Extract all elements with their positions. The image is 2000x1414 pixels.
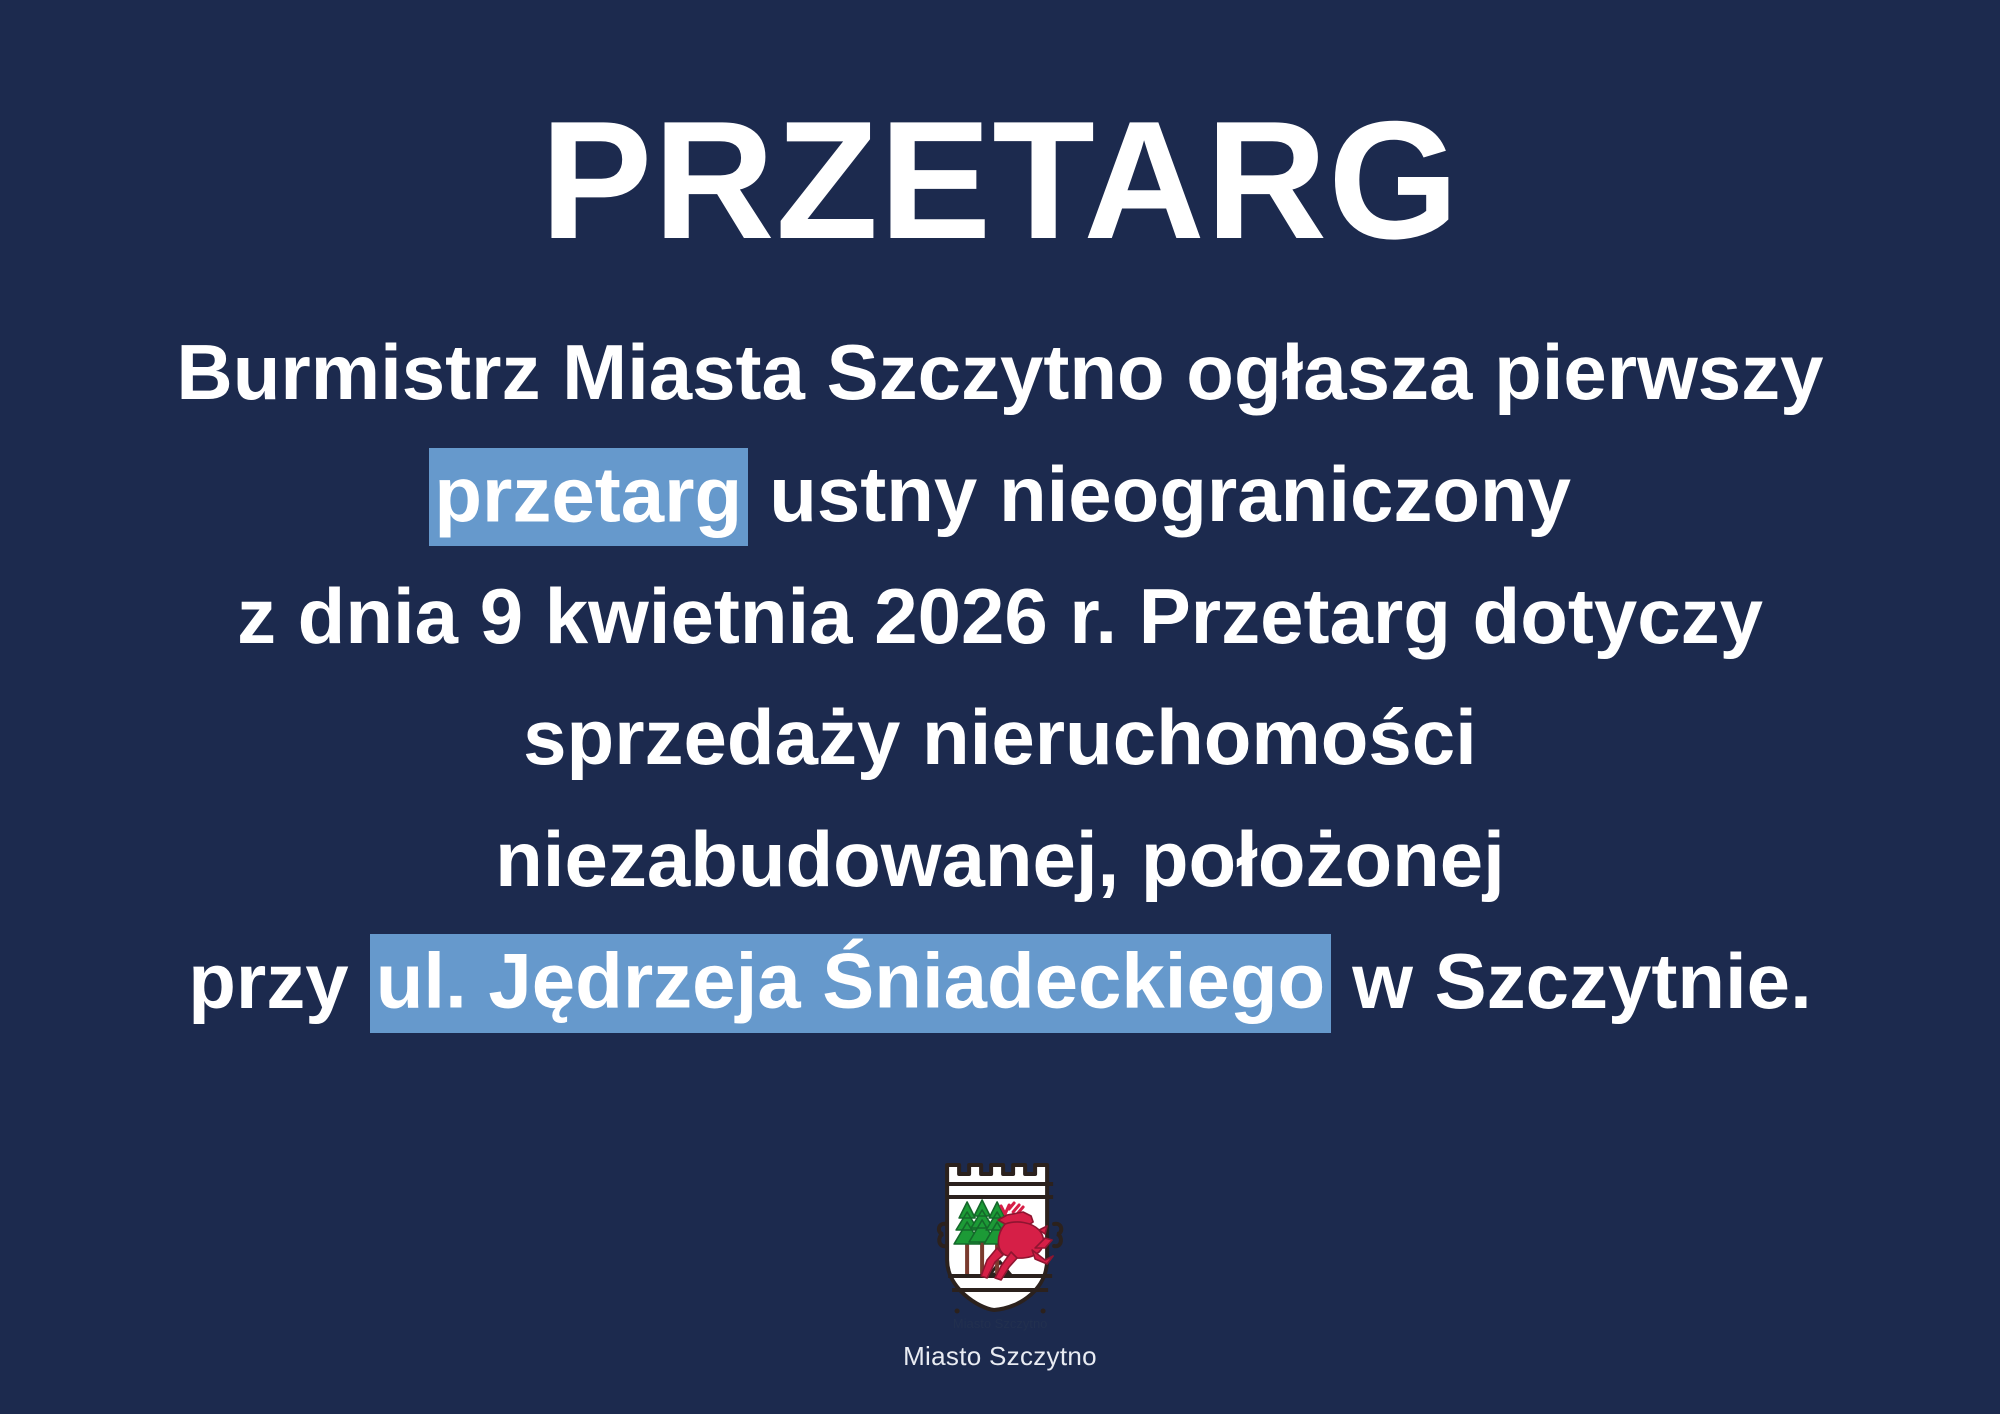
body-line-2: przetarg ustny nieograniczony xyxy=(60,434,1940,556)
city-logo: Miasto Szczytno Miasto Szczytno xyxy=(903,1160,1097,1372)
body-line-1: Burmistrz Miasta Szczytno ogłasza pierws… xyxy=(60,312,1940,434)
highlight-street-name: ul. Jędrzeja Śniadeckiego xyxy=(370,934,1330,1032)
body-text: w Szczytnie. xyxy=(1331,937,1812,1025)
body-line-6: przy ul. Jędrzeja Śniadeckiego w Szczytn… xyxy=(60,921,1940,1043)
szczytno-coat-of-arms-icon: Miasto Szczytno xyxy=(935,1160,1065,1332)
body-text: sprzedaży nieruchomości xyxy=(523,693,1477,781)
body-text: ustny nieograniczony xyxy=(748,450,1571,538)
logo-caption: Miasto Szczytno xyxy=(903,1341,1097,1372)
body-line-3: z dnia 9 kwietnia 2026 r. Przetarg dotyc… xyxy=(60,556,1940,678)
crest-embedded-caption: Miasto Szczytno xyxy=(953,1316,1048,1331)
announcement-poster: PRZETARG Burmistrz Miasta Szczytno ogłas… xyxy=(0,0,2000,1414)
body-line-5: niezabudowanej, położonej xyxy=(60,799,1940,921)
highlight-przetarg: przetarg xyxy=(429,448,748,546)
body-text: Burmistrz Miasta Szczytno ogłasza pierws… xyxy=(176,328,1823,416)
body-line-4: sprzedaży nieruchomości xyxy=(60,677,1940,799)
announcement-body: Burmistrz Miasta Szczytno ogłasza pierws… xyxy=(60,312,1940,1042)
body-text: z dnia 9 kwietnia 2026 r. Przetarg dotyc… xyxy=(237,572,1763,660)
page-title: PRZETARG xyxy=(540,92,1460,268)
body-text: niezabudowanej, położonej xyxy=(495,815,1505,903)
body-text: przy xyxy=(188,937,370,1025)
